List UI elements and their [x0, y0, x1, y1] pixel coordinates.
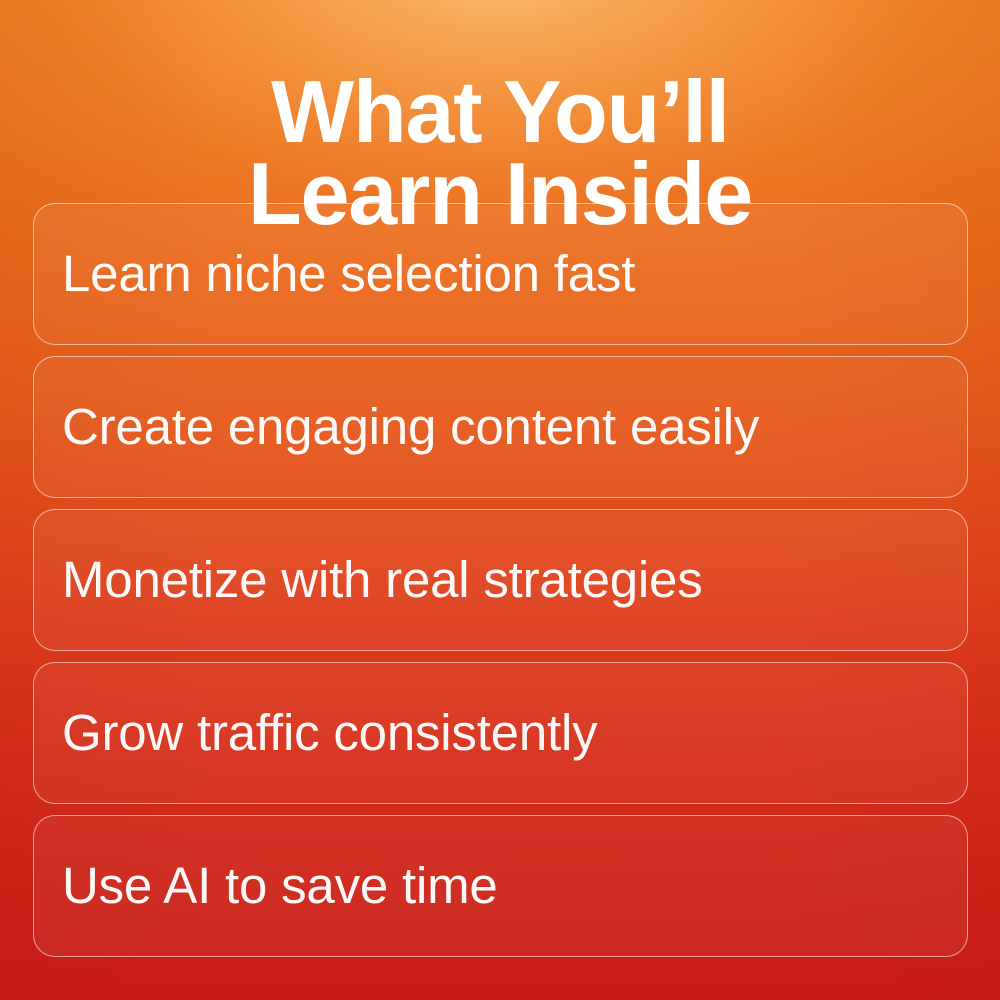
benefit-card-5[interactable]: Use AI to save time — [33, 815, 968, 957]
benefit-card-label: Grow traffic consistently — [62, 706, 597, 760]
page-title-line-1: What You’ll — [0, 71, 1000, 153]
benefit-card-label: Learn niche selection fast — [62, 247, 635, 301]
benefit-card-4[interactable]: Grow traffic consistently — [33, 662, 968, 804]
poster-content: What You’llLearn Inside Learn niche sele… — [0, 0, 1000, 1000]
benefit-card-list: Learn niche selection fast Create engagi… — [33, 203, 968, 957]
benefit-card-label: Use AI to save time — [62, 859, 498, 913]
poster-canvas: What You’llLearn Inside Learn niche sele… — [0, 0, 1000, 1000]
benefit-card-2[interactable]: Create engaging content easily — [33, 356, 968, 498]
benefit-card-label: Monetize with real strategies — [62, 553, 703, 607]
benefit-card-1[interactable]: Learn niche selection fast — [33, 203, 968, 345]
benefit-card-label: Create engaging content easily — [62, 400, 759, 454]
benefit-card-3[interactable]: Monetize with real strategies — [33, 509, 968, 651]
